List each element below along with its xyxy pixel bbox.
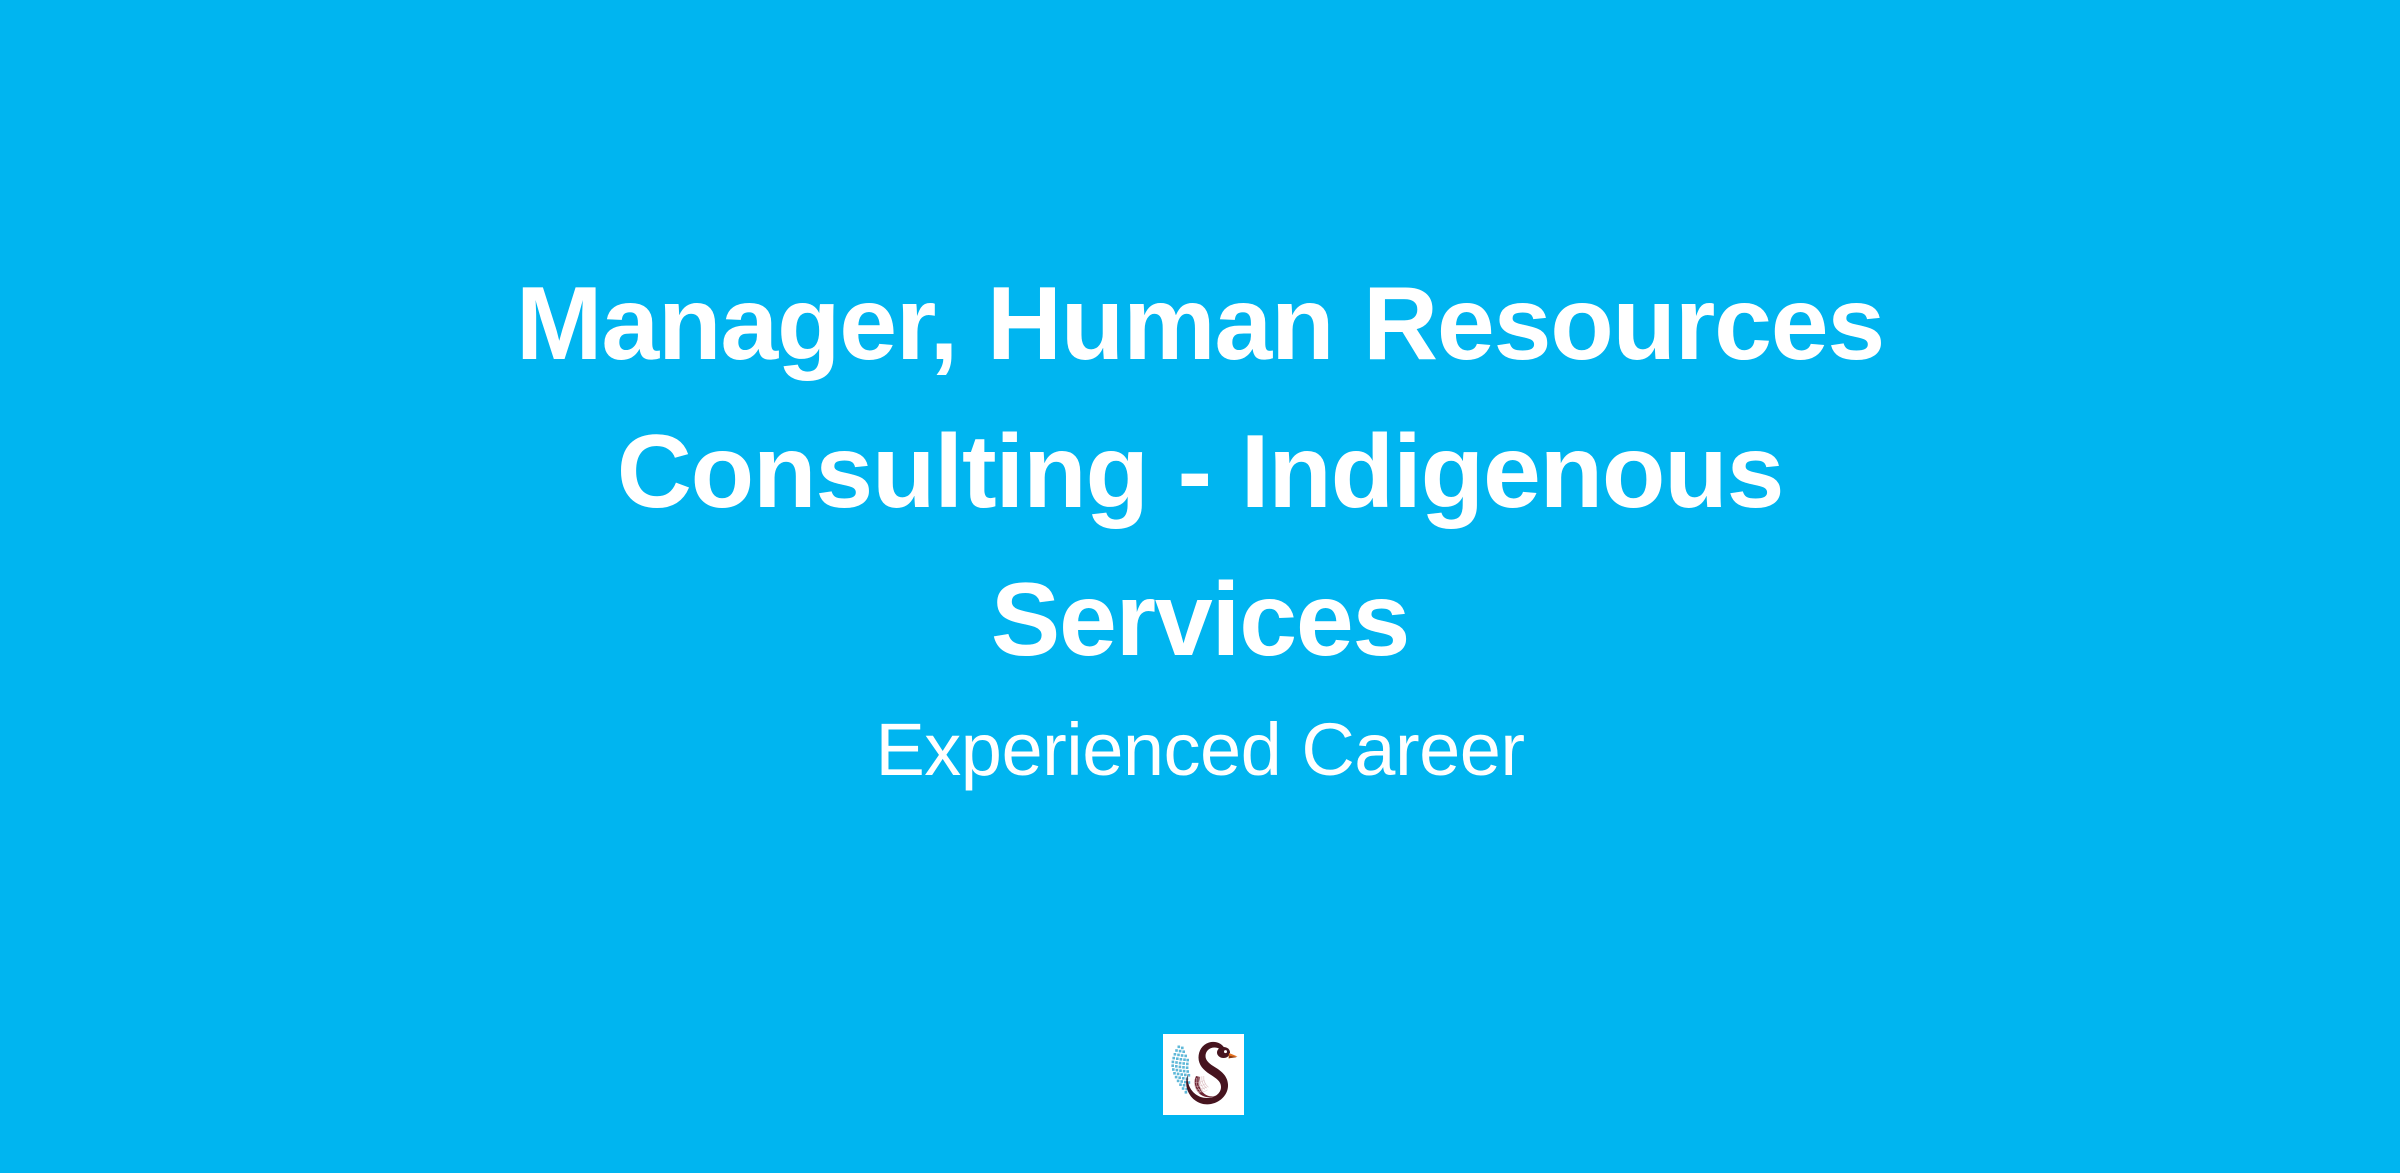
swan-logo (1163, 1034, 1244, 1115)
job-title-line-2: Consulting - Indigenous (617, 414, 1783, 530)
job-posting-banner: Manager, Human Resources Consulting - In… (0, 0, 2400, 1173)
job-title-line-3: Services (991, 562, 1409, 678)
banner-text-block: Manager, Human Resources Consulting - In… (0, 0, 2400, 1173)
page-title: Manager, Human Resources Consulting - In… (420, 250, 1980, 694)
job-title-line-1: Manager, Human Resources (516, 266, 1884, 382)
career-level-subtitle: Experienced Career (400, 704, 2000, 796)
